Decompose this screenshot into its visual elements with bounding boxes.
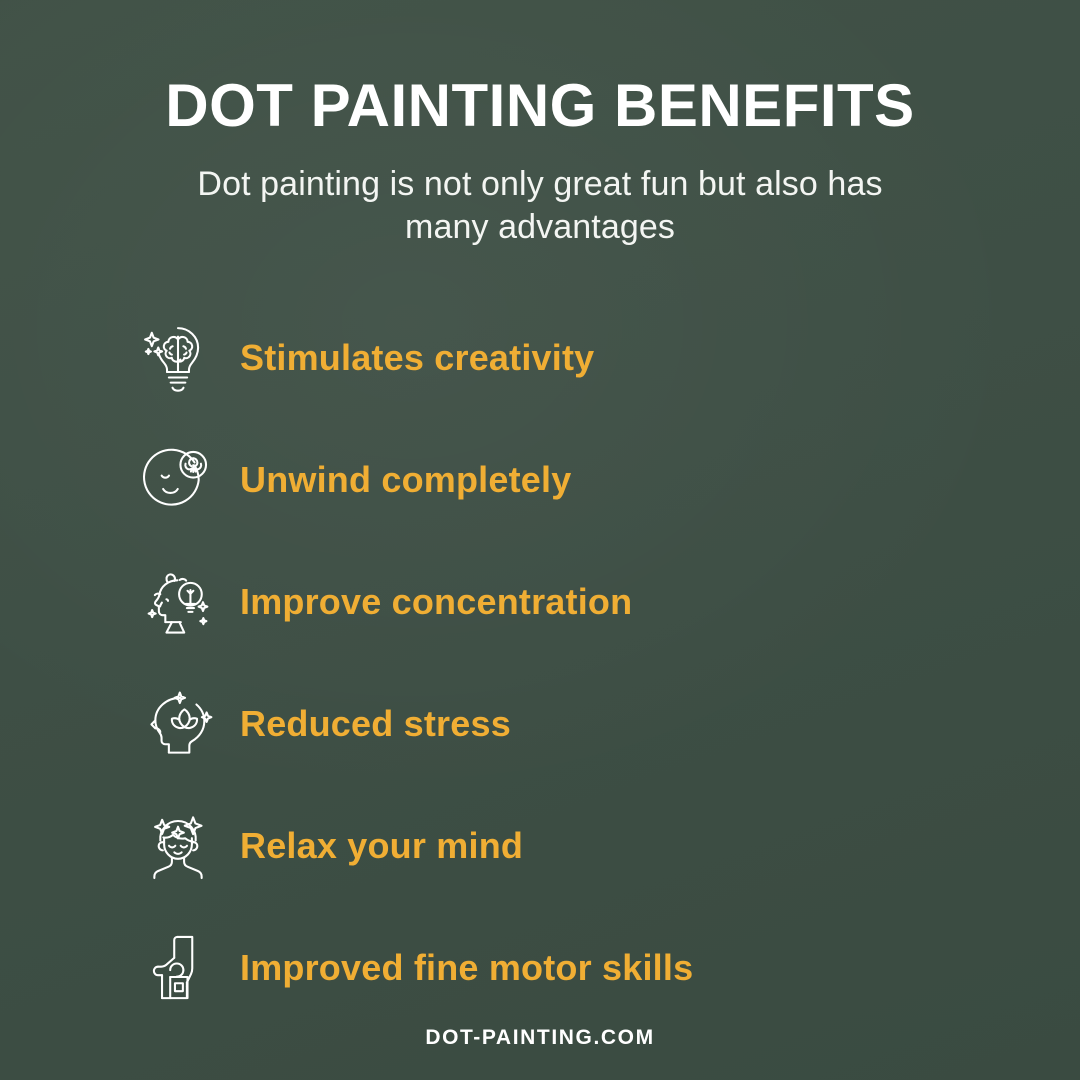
- list-item: Reduced stress: [138, 663, 998, 785]
- head-profile-lotus-icon: [138, 684, 218, 764]
- list-item: Improve concentration: [138, 541, 998, 663]
- list-item: Improved fine motor skills: [138, 907, 998, 1029]
- page-subtitle: Dot painting is not only great fun but a…: [155, 163, 925, 249]
- lightbulb-brain-sparkle-icon: [138, 318, 218, 398]
- page-title: DOT PAINTING BENEFITS: [0, 74, 1080, 137]
- list-item-label: Reduced stress: [240, 706, 511, 742]
- hand-holding-object-icon: [138, 928, 218, 1008]
- list-item-label: Unwind completely: [240, 462, 571, 498]
- website-url: DOT-PAINTING.COM: [425, 1026, 654, 1049]
- benefits-list: Stimulates creativity Unw: [0, 297, 1080, 1029]
- smiling-face-flower-icon: [138, 440, 218, 520]
- poster-footer: DOT-PAINTING.COM: [0, 1026, 1080, 1050]
- list-item: Stimulates creativity: [138, 297, 998, 419]
- relaxed-face-sparkles-icon: [138, 806, 218, 886]
- list-item-label: Improved fine motor skills: [240, 950, 693, 986]
- list-item-label: Improve concentration: [240, 584, 632, 620]
- poster-canvas: DOT PAINTING BENEFITS Dot painting is no…: [0, 0, 1080, 1080]
- list-item-label: Stimulates creativity: [240, 340, 594, 376]
- list-item: Unwind completely: [138, 419, 998, 541]
- list-item-label: Relax your mind: [240, 828, 523, 864]
- list-item: Relax your mind: [138, 785, 998, 907]
- head-profile-lightbulb-icon: [138, 562, 218, 642]
- poster-header: DOT PAINTING BENEFITS Dot painting is no…: [0, 0, 1080, 249]
